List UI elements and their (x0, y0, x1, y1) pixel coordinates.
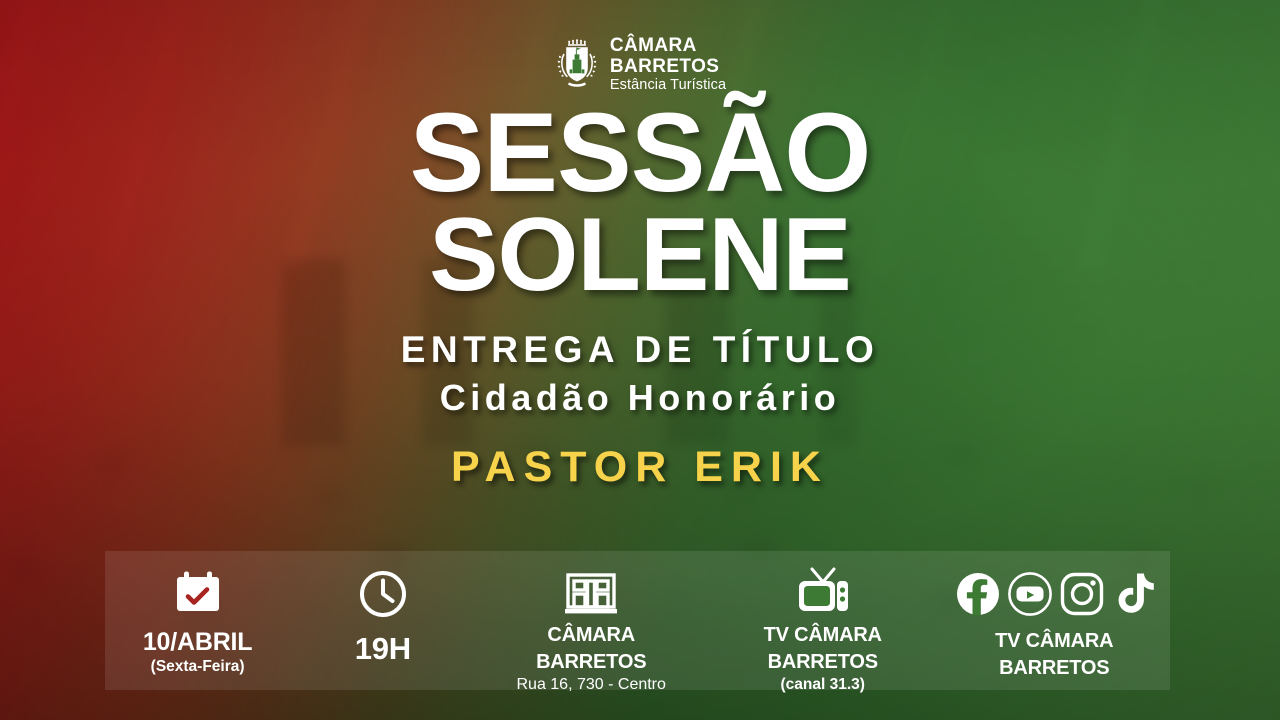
venue-line-1: CÂMARA (547, 625, 635, 646)
coat-of-arms-icon (554, 39, 600, 89)
brand-wordmark: CÂMARA BARRETOS Estância Turística (610, 36, 726, 93)
broadcast-line-2: BARRETOS (768, 652, 878, 673)
broadcast-line-1: TV CÂMARA (764, 625, 882, 646)
hero-block: SESSÃO SOLENE ENTREGA DE TÍTULO Cidadão … (0, 100, 1280, 492)
social-icon-row (954, 565, 1154, 623)
masthead: CÂMARA BARRETOS Estância Turística (0, 36, 1280, 93)
detail-time: 19H (290, 551, 475, 690)
social-line-2: BARRETOS (999, 658, 1109, 679)
social-line-1: TV CÂMARA (995, 631, 1113, 652)
television-icon (794, 565, 852, 619)
brand-line-2: BARRETOS (610, 57, 726, 76)
broadcast-channel: (canal 31.3) (780, 676, 864, 694)
detail-social: TV CÂMARA BARRETOS (938, 551, 1170, 690)
clock-icon (356, 565, 410, 623)
time-main: 19H (355, 633, 411, 665)
brand-line-1: CÂMARA (610, 36, 726, 55)
date-main: 10/ABRIL (143, 629, 253, 655)
detail-venue: CÂMARA BARRETOS Rua 16, 730 - Centro (475, 551, 707, 690)
honoree-name: PASTOR ERIK (451, 443, 829, 492)
detail-broadcast: TV CÂMARA BARRETOS (canal 31.3) (707, 551, 939, 690)
venue-line-2: BARRETOS (536, 652, 646, 673)
tiktok-icon[interactable] (1110, 570, 1154, 618)
facebook-icon[interactable] (954, 570, 1002, 618)
date-weekday: (Sexta-Feira) (151, 658, 245, 676)
event-title-line-2: SOLENE (429, 207, 851, 305)
venue-address: Rua 16, 730 - Centro (516, 676, 665, 694)
building-icon (562, 565, 620, 619)
youtube-icon[interactable] (1006, 570, 1054, 618)
event-subtitle-line-1: ENTREGA DE TÍTULO (401, 329, 880, 371)
detail-date: 10/ABRIL (Sexta-Feira) (105, 551, 290, 690)
event-details-bar: 10/ABRIL (Sexta-Feira) 19H (105, 551, 1170, 690)
event-poster: CÂMARA BARRETOS Estância Turística SESSÃ… (0, 0, 1280, 720)
instagram-icon[interactable] (1058, 570, 1106, 618)
event-subtitle-line-2: Cidadão Honorário (440, 377, 841, 419)
calendar-check-icon (171, 565, 225, 623)
event-title-line-1: SESSÃO (410, 100, 871, 205)
